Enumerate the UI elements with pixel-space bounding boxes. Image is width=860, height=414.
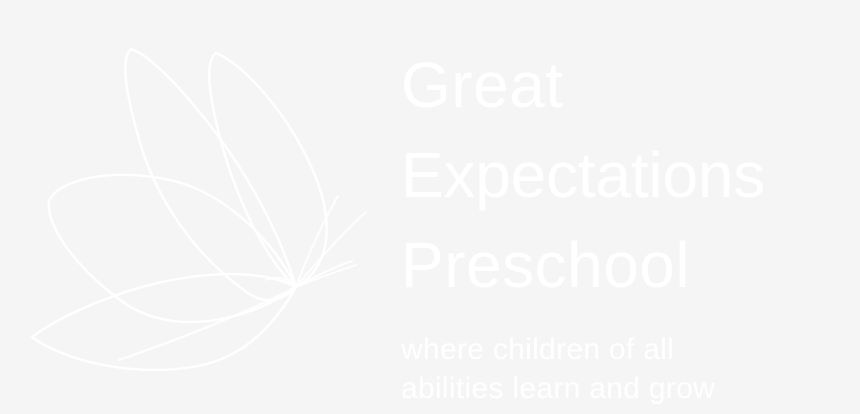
antenna-outer	[296, 212, 366, 287]
tagline: where children of all abilities learn an…	[401, 330, 841, 408]
wordmark: Great Expectations Preschool where child…	[401, 40, 841, 408]
brand-name-line-2: Expectations	[401, 130, 841, 220]
wing-trailing-sweep	[119, 261, 352, 360]
wing-upper-left-inner	[131, 49, 296, 287]
butterfly-logo-icon	[0, 0, 390, 414]
tagline-line-1: where children of all	[401, 330, 841, 369]
tagline-line-2: abilities learn and grow	[401, 369, 841, 408]
brand-name-line-3: Preschool	[401, 220, 841, 310]
brand-name-line-1: Great	[401, 40, 841, 130]
logo-canvas: Great Expectations Preschool where child…	[0, 0, 860, 414]
wing-lower-left-lower-inner	[32, 287, 296, 370]
